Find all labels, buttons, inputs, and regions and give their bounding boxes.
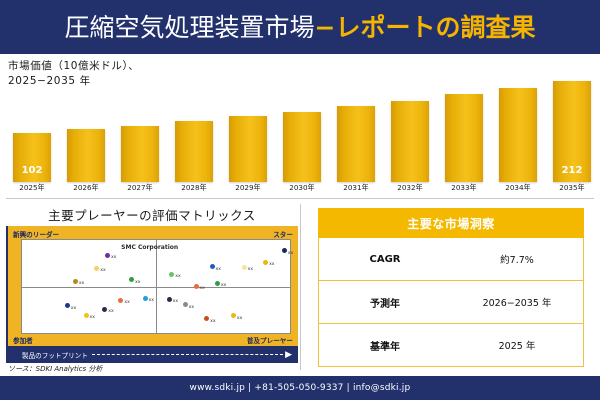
quadrant-label-emerging-leaders: 新興のリーダー <box>13 229 59 239</box>
x-axis-tick-label: 2025年 <box>12 183 52 197</box>
matrix-data-point-label: xx <box>189 305 194 310</box>
matrix-data-point <box>84 313 89 318</box>
matrix-data-point <box>94 266 99 271</box>
insights-row-value: 2026−2035 年 <box>451 295 583 309</box>
matrix-data-point-label: xx <box>148 298 153 303</box>
bar-column: 212 <box>552 72 592 182</box>
quadrant-label-participants: 参加者 <box>13 335 33 345</box>
bar-value-label: 102 <box>13 165 51 176</box>
matrix-data-point-label: xx <box>135 280 140 285</box>
x-axis-tick-label: 2027年 <box>120 183 160 197</box>
bar-column <box>498 72 538 182</box>
bar <box>175 121 213 182</box>
bar-value-label: 212 <box>553 165 591 176</box>
matrix-title: 主要プレーヤーの評価マトリックス <box>6 205 298 224</box>
key-insights-table: 主要な市場洞察 CAGR約7.7%予測年2026−2035 年基準年2025 年 <box>318 208 584 366</box>
matrix-data-point-label: xx <box>173 299 178 304</box>
market-value-chart: 市場価値（10億米ドル）、 2025−2035 年 102212 2025年20… <box>0 54 600 198</box>
insights-row-value: 2025 年 <box>451 338 583 352</box>
quadrant-label-stars: スター <box>273 229 293 239</box>
page-title: 圧縮空気処理装置市場−レポートの調査果 <box>65 15 536 40</box>
matrix-data-point-label: xx <box>215 267 220 272</box>
chart-source-note: ソース：SDKI Analytics 分析 <box>8 364 102 374</box>
matrix-label-smc-corporation: SMC Corporation <box>121 244 178 251</box>
bar-column <box>120 72 160 182</box>
matrix-data-point <box>169 272 174 277</box>
matrix-data-point-label: xx <box>124 300 129 305</box>
matrix-plot-area: SMC Corporation xxxxxxxxxxxxxxxxxxxxxxxx… <box>21 239 291 334</box>
bar <box>391 101 429 182</box>
bar-column <box>390 72 430 182</box>
matrix-data-point <box>129 277 134 282</box>
footer-bar: www.sdki.jp | +81-505-050-9337 | info@sd… <box>0 376 600 400</box>
insights-row-key: 予測年 <box>319 295 451 310</box>
matrix-data-point-label: xx <box>269 262 274 267</box>
arrow-right-icon: ▶ <box>285 350 292 359</box>
section-divider-vertical <box>300 204 301 370</box>
section-divider-horizontal <box>6 198 594 199</box>
footer-contact-text: www.sdki.jp | +81-505-050-9337 | info@sd… <box>190 383 411 393</box>
matrix-data-point <box>183 302 188 307</box>
bar: 102 <box>13 133 51 182</box>
bar <box>283 112 321 182</box>
insights-table-header: 主要な市場洞察 <box>318 208 584 238</box>
matrix-data-point-label: xx <box>90 315 95 320</box>
insights-table-row: 基準年2025 年 <box>318 324 584 367</box>
chart-bars: 102212 <box>12 72 592 182</box>
insights-row-key: 基準年 <box>319 338 451 353</box>
bar <box>445 94 483 182</box>
page-title-accent: −レポートの調査果 <box>315 13 536 42</box>
x-axis-tick-label: 2033年 <box>444 183 484 197</box>
bar-column <box>444 72 484 182</box>
matrix-x-axis-label: 製品のフットプリント <box>22 350 88 360</box>
matrix-data-point <box>102 307 107 312</box>
matrix-data-point-label: xx <box>111 255 116 260</box>
matrix-data-point-label: xx <box>199 286 204 291</box>
bar <box>121 126 159 182</box>
bar <box>337 106 375 182</box>
bar-column <box>66 72 106 182</box>
bar <box>229 116 267 182</box>
insights-table-row: 予測年2026−2035 年 <box>318 281 584 324</box>
insights-row-key: CAGR <box>319 254 451 265</box>
matrix-data-point <box>242 265 247 270</box>
matrix-data-point <box>65 303 70 308</box>
header-banner: 圧縮空気処理装置市場−レポートの調査果 <box>0 0 600 54</box>
x-axis-tick-label: 2028年 <box>174 183 214 197</box>
matrix-data-point-label: xx <box>79 281 84 286</box>
bar: 212 <box>553 81 591 182</box>
x-axis-tick-label: 2029年 <box>228 183 268 197</box>
insights-table-row: CAGR約7.7% <box>318 238 584 281</box>
x-axis-tick-label: 2026年 <box>66 183 106 197</box>
matrix-data-point <box>118 298 123 303</box>
x-axis-tick-label: 2031年 <box>336 183 376 197</box>
quadrant-label-pervasive-players: 普及プレーヤー <box>247 335 293 345</box>
insights-row-value: 約7.7% <box>451 252 583 266</box>
matrix-data-point <box>143 296 148 301</box>
matrix-x-axis: 製品のフットプリント ▶ <box>6 346 298 363</box>
matrix-data-point <box>167 297 172 302</box>
matrix-data-point <box>204 316 209 321</box>
matrix-data-point <box>210 264 215 269</box>
bar-column: 102 <box>12 72 52 182</box>
bar-column <box>228 72 268 182</box>
matrix-data-point <box>263 260 268 265</box>
matrix-data-point-label: xx <box>221 283 226 288</box>
matrix-data-point-label: xx <box>175 274 180 279</box>
bar-column <box>282 72 322 182</box>
bar-column <box>174 72 214 182</box>
report-infographic: 圧縮空気処理装置市場−レポートの調査果 市場価値（10億米ドル）、 2025−2… <box>0 0 600 400</box>
matrix-chart: 新興のリーダー スター 参加者 普及プレーヤー SMC Corporation … <box>8 226 298 348</box>
insights-table-body: CAGR約7.7%予測年2026−2035 年基準年2025 年 <box>318 238 584 367</box>
x-axis-dashed-line <box>92 354 283 355</box>
matrix-data-point <box>282 248 287 253</box>
matrix-data-point-label: xx <box>108 309 113 314</box>
matrix-data-point <box>73 279 78 284</box>
matrix-data-point-label: xx <box>100 268 105 273</box>
x-axis-tick-label: 2035年 <box>552 183 592 197</box>
player-matrix-panel: 主要プレーヤーの評価マトリックス ▲ 市場シェア・順位 新興のリーダー スター … <box>6 200 298 372</box>
matrix-horizontal-divider <box>22 287 290 288</box>
x-axis-tick-label: 2032年 <box>390 183 430 197</box>
chart-x-axis: 2025年2026年2027年2028年2029年2030年2031年2032年… <box>12 183 592 197</box>
matrix-data-point <box>231 313 236 318</box>
matrix-data-point-label: xx <box>248 267 253 272</box>
matrix-data-point-label: xx <box>210 319 215 324</box>
page-title-main: 圧縮空気処理装置市場 <box>65 13 315 42</box>
x-axis-tick-label: 2034年 <box>498 183 538 197</box>
bar <box>499 88 537 182</box>
bar-column <box>336 72 376 182</box>
matrix-data-point <box>215 281 220 286</box>
matrix-data-point <box>105 253 110 258</box>
bar <box>67 129 105 182</box>
matrix-data-point-label: xx <box>71 306 76 311</box>
x-axis-tick-label: 2030年 <box>282 183 322 197</box>
matrix-data-point <box>194 284 199 289</box>
matrix-data-point-label: xx <box>237 316 242 321</box>
matrix-data-point-label: xx <box>288 251 293 256</box>
